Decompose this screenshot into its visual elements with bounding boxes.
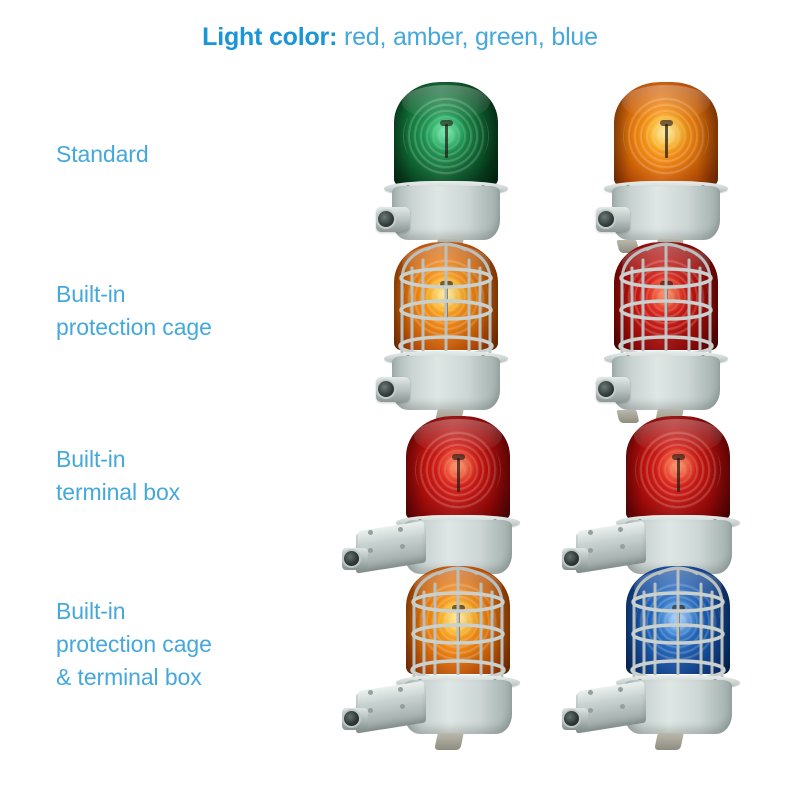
beacon-dome-red (614, 242, 718, 350)
product-image-cage-terminalbox-blue (560, 556, 770, 756)
row-label-protection-cage-and-terminal-box: Built-in protection cage & terminal box (56, 595, 336, 694)
mounting-foot (434, 733, 464, 750)
product-image-cage-terminalbox-amber (340, 556, 550, 756)
row-label-protection-cage: Built-in protection cage (56, 278, 336, 344)
cable-gland-icon (562, 708, 588, 730)
cable-gland-icon (596, 207, 630, 232)
row-label-line: protection cage (56, 311, 336, 344)
row-label-line: terminal box (56, 476, 336, 509)
row-label-line: Built-in (56, 443, 336, 476)
row-label-line: & terminal box (56, 661, 336, 694)
beacon-dome-amber (406, 566, 510, 674)
beacon-dome-green (394, 82, 498, 186)
beacon-dome-amber (614, 82, 718, 186)
beacon-dome-red (406, 416, 510, 520)
row-label-terminal-box: Built-in terminal box (56, 443, 336, 509)
cable-gland-icon (342, 708, 368, 730)
terminal-box (342, 686, 426, 732)
beacon-dome-amber (394, 242, 498, 350)
light-color-heading: Light color: red, amber, green, blue (0, 22, 800, 52)
row-label-line: protection cage (56, 628, 336, 661)
mounting-foot (654, 733, 684, 750)
row-label-line: Built-in (56, 595, 336, 628)
heading-color-list: red, amber, green, blue (337, 23, 598, 51)
heading-strong-text: Light color: (202, 23, 337, 51)
row-label-line: Standard (56, 138, 336, 171)
beacon-dome-red (626, 416, 730, 520)
cable-gland-icon (376, 207, 410, 232)
beacon-dome-blue (626, 566, 730, 674)
terminal-box (562, 686, 646, 732)
row-label-standard: Standard (56, 138, 336, 171)
row-label-line: Built-in (56, 278, 336, 311)
